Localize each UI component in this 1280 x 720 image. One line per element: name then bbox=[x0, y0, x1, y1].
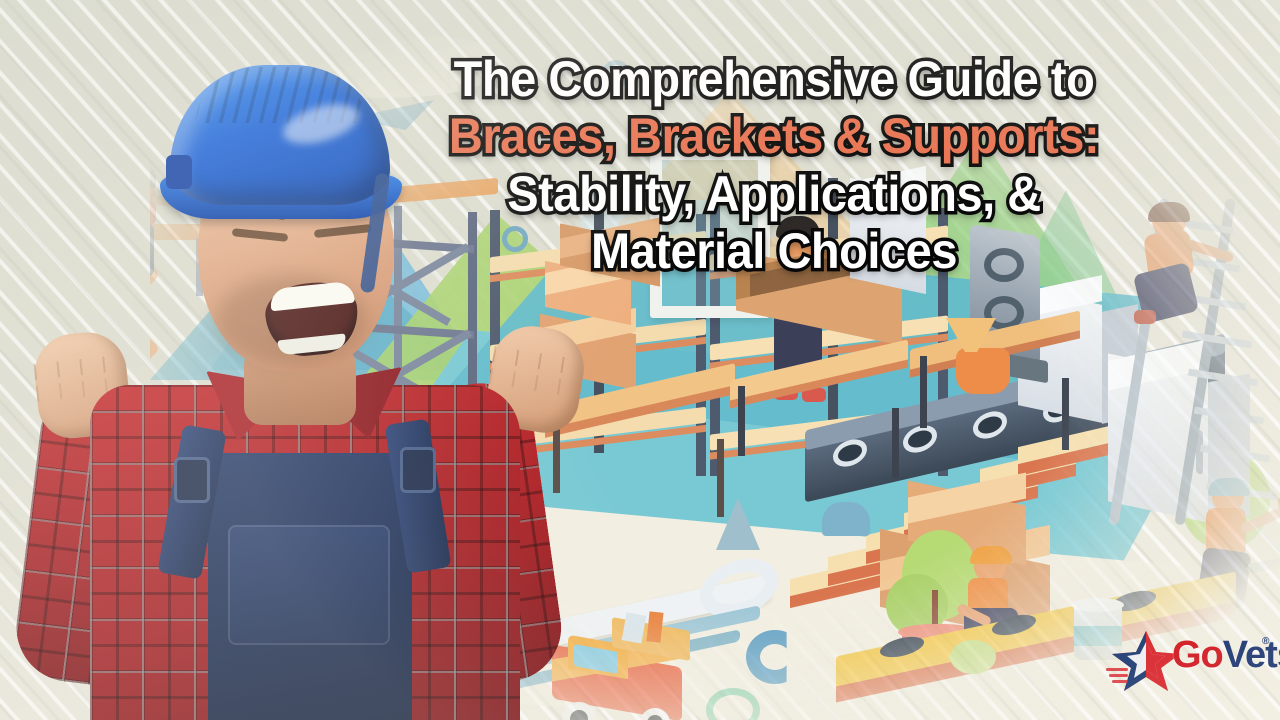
registered-trademark-icon: ® bbox=[1262, 636, 1269, 647]
worker-overalls-pocket bbox=[228, 525, 390, 645]
logo-motion-line-3 bbox=[1112, 680, 1128, 683]
blue-clip-prop bbox=[822, 502, 870, 536]
workbench-table-2 bbox=[730, 360, 930, 490]
logo-motion-line-1 bbox=[1106, 668, 1128, 671]
green-blob-prop bbox=[950, 640, 996, 674]
title-line-3: Stability, Applications, & bbox=[381, 167, 1167, 221]
title-line-2: Braces, Brackets & Supports: bbox=[381, 109, 1167, 163]
logo-word-vets: Vets bbox=[1223, 634, 1280, 676]
orange-bag-prop bbox=[956, 348, 1010, 394]
logo-word-go: Go bbox=[1172, 634, 1223, 676]
logo-motion-line-2 bbox=[1109, 674, 1128, 677]
title-line-4: Material Choices bbox=[381, 224, 1167, 278]
worker-strap-buckle-right bbox=[400, 447, 436, 493]
govets-logo[interactable]: GoVets ® bbox=[1110, 628, 1270, 692]
page-title: The Comprehensive Guide to Braces, Brack… bbox=[356, 52, 1192, 281]
worker-strap-buckle-left bbox=[174, 457, 210, 503]
hero-banner: The Comprehensive Guide to Braces, Brack… bbox=[0, 0, 1280, 720]
hard-hat-side-clip bbox=[166, 155, 192, 189]
title-line-1: The Comprehensive Guide to bbox=[381, 52, 1167, 106]
